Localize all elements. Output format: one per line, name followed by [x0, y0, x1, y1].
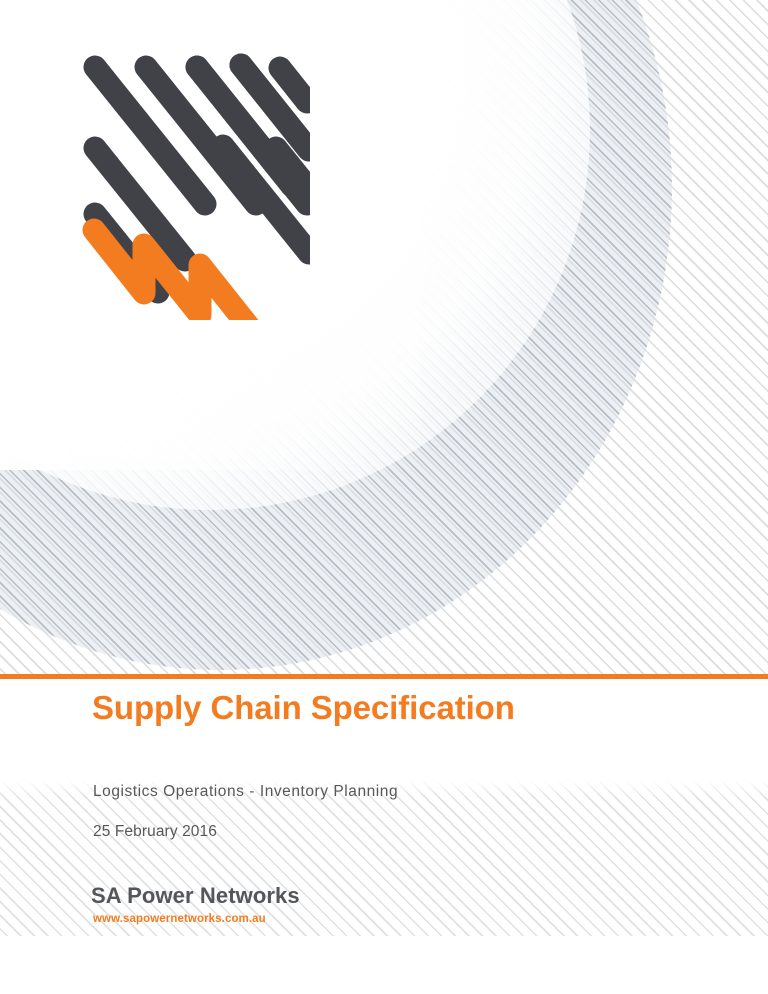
document-subtitle: Logistics Operations - Inventory Plannin… [93, 783, 398, 801]
document-title: Supply Chain Specification [92, 689, 515, 727]
company-website-link[interactable]: www.sapowernetworks.com.au [93, 913, 266, 925]
cover-hero-area [0, 0, 768, 676]
document-cover-page: Supply Chain Specification Logistics Ope… [0, 0, 768, 994]
sa-power-networks-logo-icon [80, 50, 310, 320]
document-date: 25 February 2016 [93, 823, 217, 841]
company-name: SA Power Networks [91, 883, 300, 909]
